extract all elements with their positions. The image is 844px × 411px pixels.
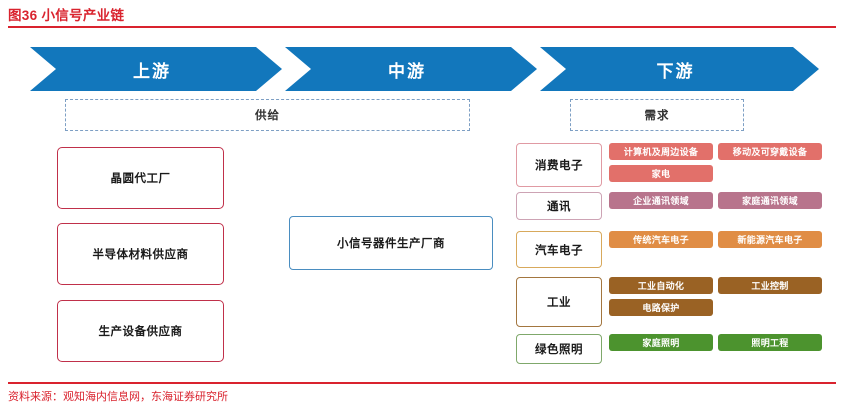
downstream-category-industrial[interactable]: 工业 — [516, 277, 602, 327]
page-title: 图36 小信号产业链 — [8, 4, 124, 24]
chevron-upstream[interactable]: 上游 — [30, 47, 282, 91]
tag-lighting-engineering[interactable]: 照明工程 — [718, 334, 822, 351]
title-divider — [8, 26, 836, 28]
tag-home-communication[interactable]: 家庭通讯领域 — [718, 192, 822, 209]
downstream-tags-communications: 企业通讯领域 家庭通讯领域 — [609, 192, 825, 209]
tag-industrial-automation[interactable]: 工业自动化 — [609, 277, 713, 294]
downstream-row-automotive-electronics: 汽车电子 传统汽车电子 新能源汽车电子 — [516, 231, 826, 268]
tag-enterprise-communication[interactable]: 企业通讯领域 — [609, 192, 713, 209]
upstream-box-wafer-foundry[interactable]: 晶圆代工厂 — [57, 147, 224, 209]
tag-circuit-protection[interactable]: 电路保护 — [609, 299, 713, 316]
downstream-tags-consumer-electronics: 计算机及周边设备 移动及可穿戴设备 家电 — [609, 143, 825, 182]
downstream-category-green-lighting[interactable]: 绿色照明 — [516, 334, 602, 364]
demand-label-box: 需求 — [570, 99, 744, 131]
tag-home-appliance[interactable]: 家电 — [609, 165, 713, 182]
upstream-box-material-supplier[interactable]: 半导体材料供应商 — [57, 223, 224, 285]
chevron-downstream[interactable]: 下游 — [540, 47, 819, 91]
tag-mobile-wearable[interactable]: 移动及可穿戴设备 — [718, 143, 822, 160]
source-note: 资料来源：观知海内信息网，东海证券研究所 — [8, 388, 228, 404]
chevron-midstream[interactable]: 中游 — [285, 47, 537, 91]
footer-divider — [8, 382, 836, 384]
tag-new-energy-automotive[interactable]: 新能源汽车电子 — [718, 231, 822, 248]
chevron-downstream-label: 下游 — [657, 57, 695, 82]
downstream-tags-automotive-electronics: 传统汽车电子 新能源汽车电子 — [609, 231, 825, 248]
chevron-upstream-label: 上游 — [133, 57, 171, 82]
downstream-tags-green-lighting: 家庭照明 照明工程 — [609, 334, 825, 351]
downstream-row-consumer-electronics: 消费电子 计算机及周边设备 移动及可穿戴设备 家电 — [516, 143, 826, 187]
tag-computer-peripherals[interactable]: 计算机及周边设备 — [609, 143, 713, 160]
downstream-area: 消费电子 计算机及周边设备 移动及可穿戴设备 家电 通讯 企业通讯领域 家庭通讯… — [516, 143, 826, 375]
downstream-row-communications: 通讯 企业通讯领域 家庭通讯领域 — [516, 192, 826, 220]
chevron-midstream-label: 中游 — [388, 57, 426, 82]
downstream-row-industrial: 工业 工业自动化 工业控制 电路保护 — [516, 277, 826, 327]
downstream-row-green-lighting: 绿色照明 家庭照明 照明工程 — [516, 334, 826, 364]
downstream-tags-industrial: 工业自动化 工业控制 电路保护 — [609, 277, 825, 316]
tag-industrial-control[interactable]: 工业控制 — [718, 277, 822, 294]
tag-traditional-automotive[interactable]: 传统汽车电子 — [609, 231, 713, 248]
value-chain-chevrons: 上游 中游 下游 — [0, 47, 844, 91]
downstream-category-consumer-electronics[interactable]: 消费电子 — [516, 143, 602, 187]
downstream-category-automotive-electronics[interactable]: 汽车电子 — [516, 231, 602, 268]
upstream-box-equipment-supplier[interactable]: 生产设备供应商 — [57, 300, 224, 362]
tag-home-lighting[interactable]: 家庭照明 — [609, 334, 713, 351]
supply-label-box: 供给 — [65, 99, 470, 131]
midstream-box-manufacturer[interactable]: 小信号器件生产厂商 — [289, 216, 493, 270]
downstream-category-communications[interactable]: 通讯 — [516, 192, 602, 220]
figure-header: 图36 小信号产业链 — [0, 0, 844, 32]
